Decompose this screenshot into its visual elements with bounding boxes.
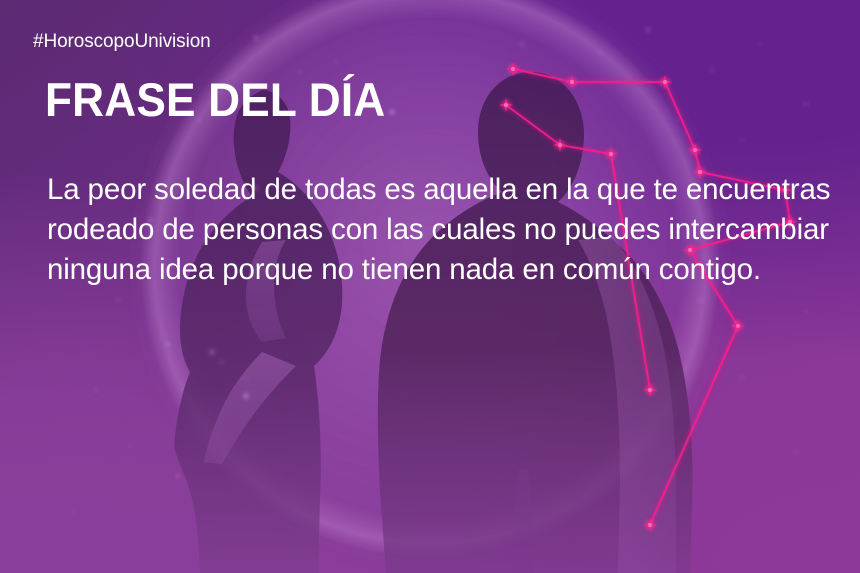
constellation-lines [506,69,790,525]
constellation-layer [0,0,860,573]
horoscope-quote-card: #HoroscopoUnivision FRASE DEL DÍA La peo… [0,0,860,573]
